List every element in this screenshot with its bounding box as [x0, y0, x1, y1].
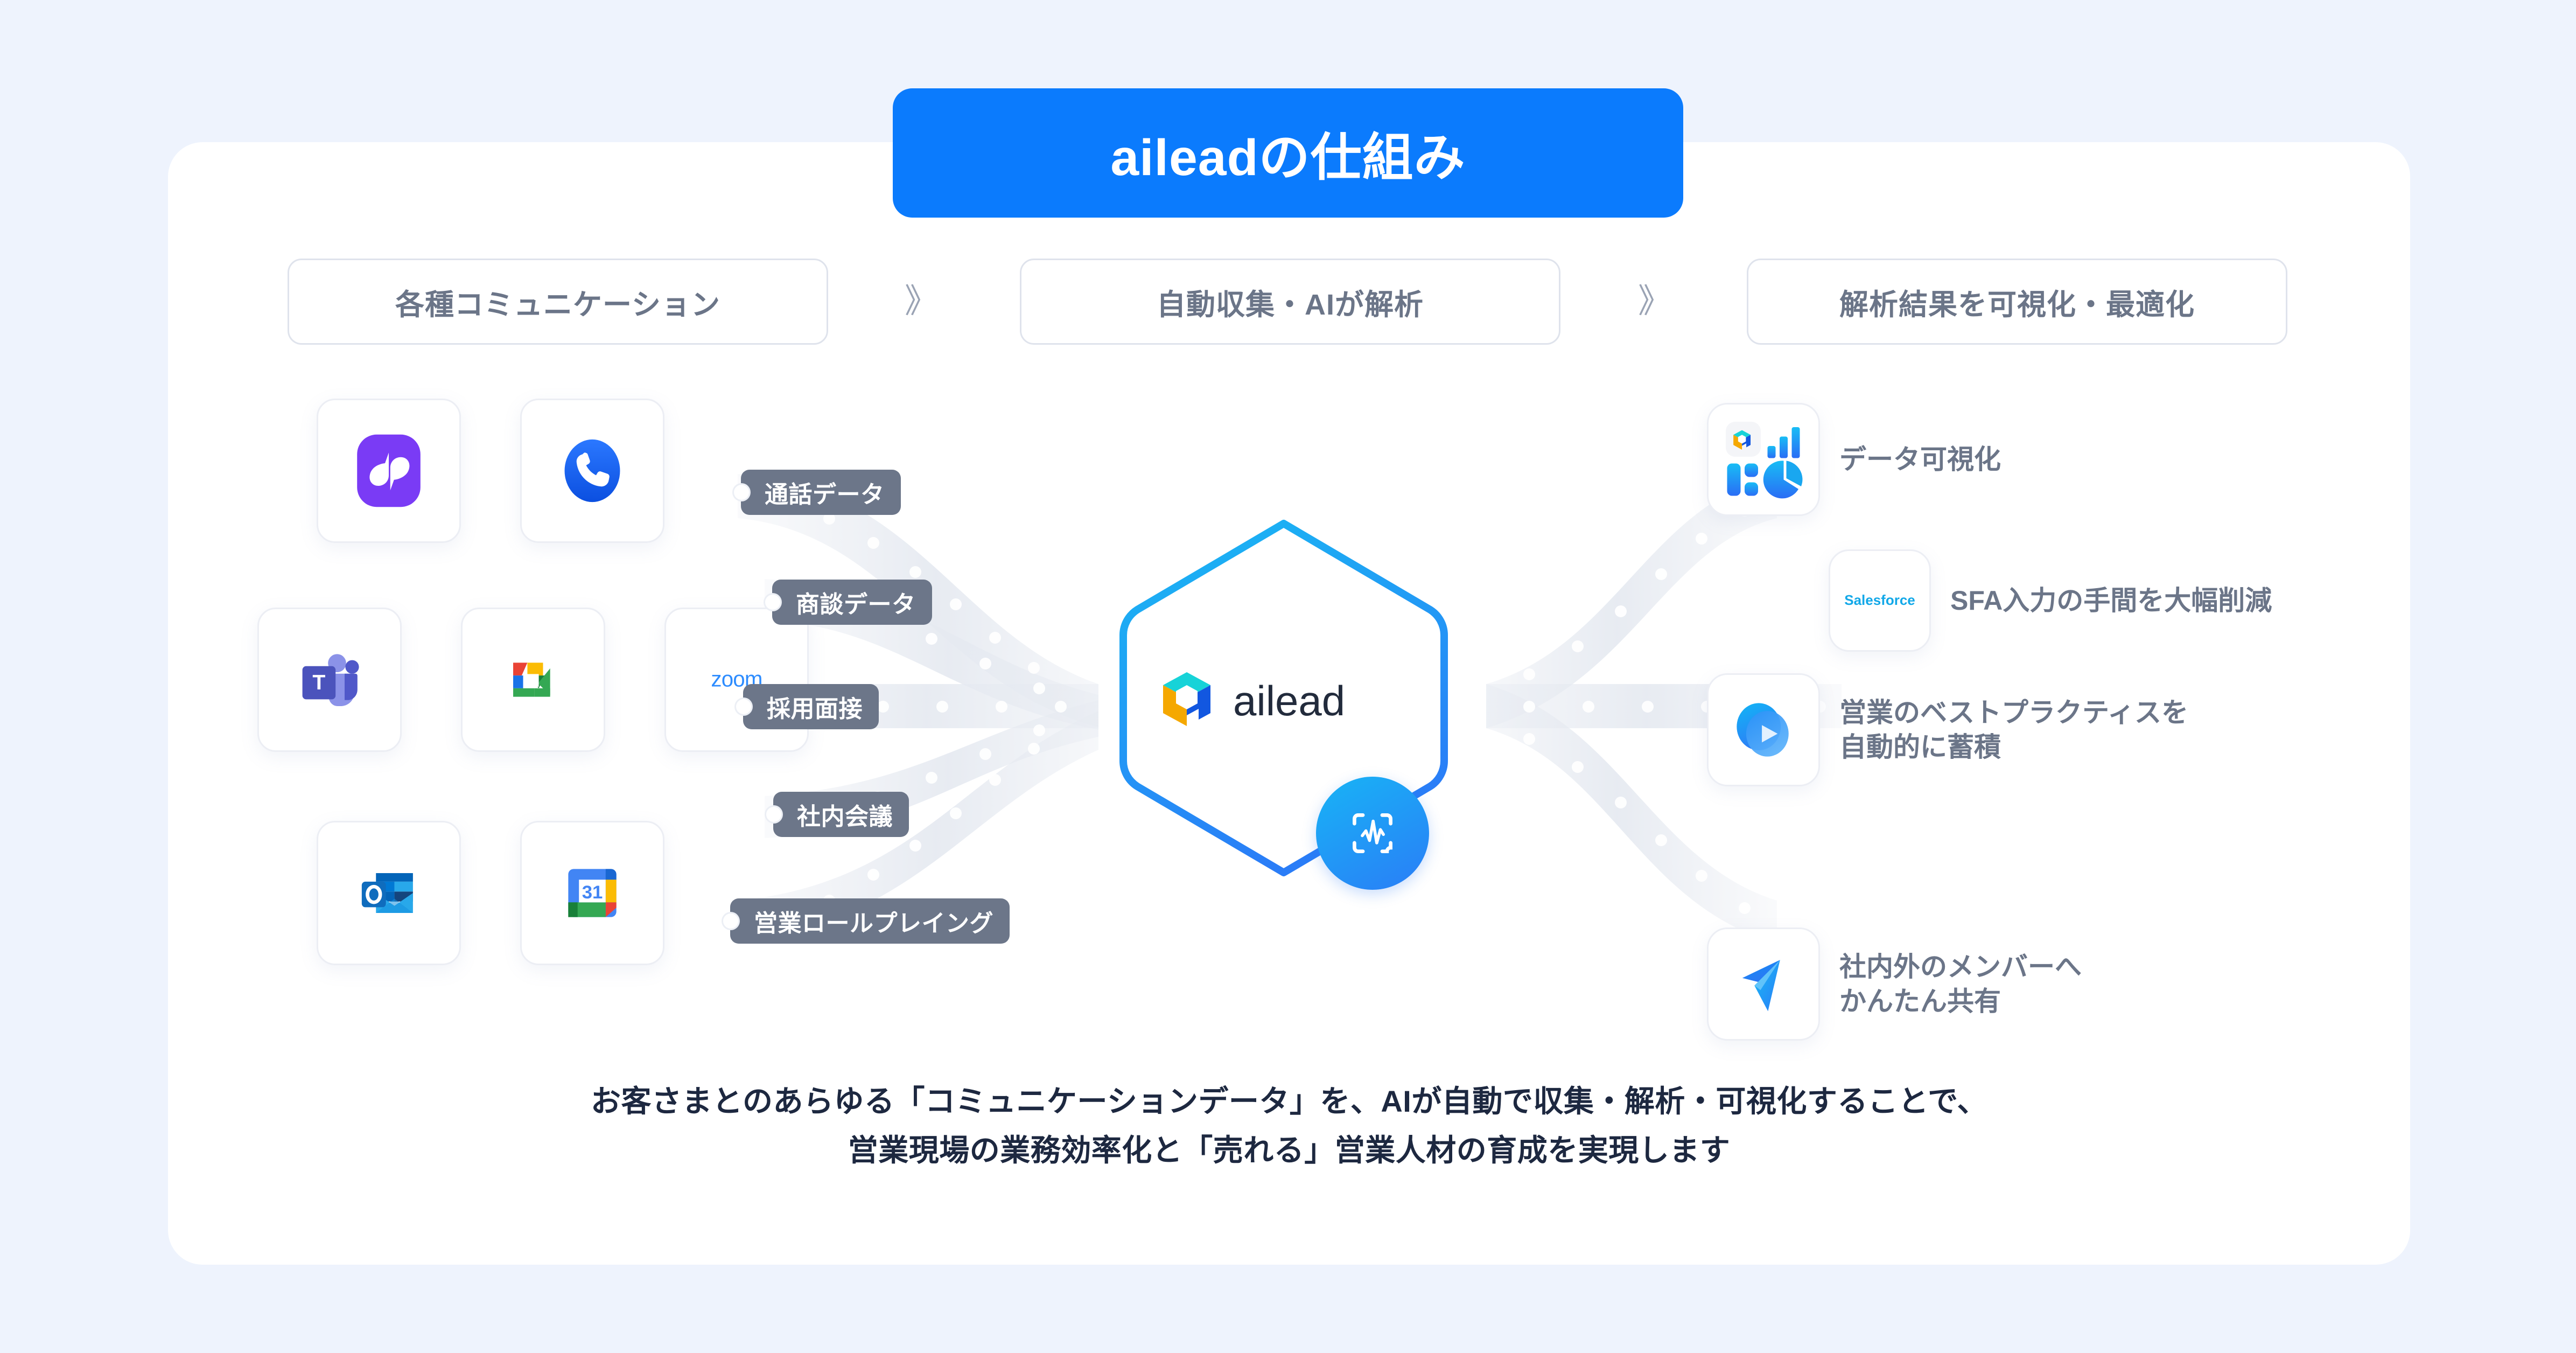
- source-tile-google-meet[interactable]: [461, 608, 605, 752]
- data-pill-interview-label: 採用面接: [767, 689, 863, 724]
- pill-dot-icon: [736, 699, 751, 714]
- data-pill-roleplay: 営業ロールプレイング: [730, 898, 1010, 944]
- title-banner: aileadの仕組み: [893, 88, 1683, 218]
- output-item-salesforce: Salesforce SFA入力の手間を大幅削減: [1829, 549, 2272, 652]
- ailead-logo: ailead: [1159, 666, 1396, 736]
- output-item-bestpractice: 営業のベストプラクティスを 自動的に蓄積: [1707, 673, 2188, 786]
- output-item-visualization: データ可視化: [1707, 403, 2001, 516]
- miitel-icon: [351, 433, 426, 508]
- step-header-output-label: 解析結果を可視化・最適化: [1839, 281, 2195, 323]
- data-pill-internal-label: 社内会議: [797, 797, 893, 832]
- infographic-stage: aileadの仕組み 各種コミュニケーション 》 自動収集・AIが解析 》 解析…: [0, 0, 2576, 1353]
- data-pill-interview: 採用面接: [743, 684, 879, 729]
- data-visualization-icon: [1723, 419, 1804, 500]
- microsoft-outlook-icon: [353, 857, 424, 929]
- google-meet-icon: [498, 644, 569, 715]
- play-circle-icon: [1724, 691, 1803, 769]
- source-tile-google-calendar[interactable]: 31: [520, 821, 664, 965]
- svg-text:Salesforce: Salesforce: [1844, 592, 1915, 608]
- google-calendar-icon: 31: [559, 860, 626, 926]
- source-tile-miitel[interactable]: [317, 399, 461, 543]
- ailead-wordmark-text: ailead: [1233, 677, 1345, 724]
- output-icon-visualization: [1707, 403, 1820, 516]
- ai-waveform-badge: [1316, 777, 1429, 890]
- output-label-visualization: データ可視化: [1839, 442, 2001, 477]
- caption-line-1: お客さまとのあらゆる「コミュニケーションデータ」を、AIが自動で収集・解析・可視…: [168, 1077, 2410, 1126]
- microsoft-teams-icon: T: [292, 642, 367, 717]
- output-icon-bestpractice: [1707, 673, 1820, 786]
- data-pill-roleplay-label: 営業ロールプレイング: [754, 904, 993, 938]
- source-tile-zoom[interactable]: zoom: [664, 608, 809, 752]
- source-tile-phone[interactable]: [520, 399, 664, 543]
- caption: お客さまとのあらゆる「コミュニケーションデータ」を、AIが自動で収集・解析・可視…: [168, 1077, 2410, 1175]
- output-icon-salesforce: Salesforce: [1829, 549, 1931, 652]
- page-title: aileadの仕組み: [1110, 116, 1465, 190]
- output-label-share: 社内外のメンバーへ かんたん共有: [1839, 950, 2082, 1019]
- step-header-sources-label: 各種コミュニケーション: [395, 281, 720, 323]
- step-header-sources: 各種コミュニケーション: [288, 259, 828, 345]
- pill-dot-icon: [734, 485, 749, 500]
- data-pill-meeting-label: 商談データ: [796, 585, 916, 619]
- waveform-scan-icon: [1342, 803, 1403, 863]
- send-plane-icon: [1726, 946, 1801, 1022]
- pill-dot-icon: [723, 913, 738, 929]
- output-item-share: 社内外のメンバーへ かんたん共有: [1707, 927, 2082, 1041]
- chevron-separator-2: 》: [1638, 280, 1671, 323]
- chevron-separator-1: 》: [905, 280, 938, 323]
- data-pill-call-label: 通話データ: [765, 475, 885, 510]
- output-label-bestpractice: 営業のベストプラクティスを 自動的に蓄積: [1839, 695, 2188, 764]
- data-pill-call: 通話データ: [741, 470, 901, 515]
- source-tile-teams[interactable]: T: [257, 608, 402, 752]
- svg-text:T: T: [312, 671, 325, 694]
- caption-line-2: 営業現場の業務効率化と「売れる」営業人材の育成を実現します: [168, 1126, 2410, 1175]
- salesforce-icon: Salesforce: [1837, 584, 1923, 617]
- pill-dot-icon: [766, 807, 781, 822]
- phone-call-icon: [557, 435, 628, 506]
- svg-text:31: 31: [582, 882, 603, 903]
- step-header-analysis: 自動収集・AIが解析: [1020, 259, 1560, 345]
- output-icon-share: [1707, 927, 1820, 1041]
- step-header-analysis-label: 自動収集・AIが解析: [1157, 281, 1424, 323]
- data-pill-meeting: 商談データ: [772, 580, 932, 625]
- ailead-cube-icon: [1163, 672, 1210, 726]
- output-label-salesforce: SFA入力の手間を大幅削減: [1950, 583, 2272, 618]
- pill-dot-icon: [765, 595, 780, 610]
- data-pill-internal: 社内会議: [773, 792, 909, 837]
- source-tile-outlook[interactable]: [317, 821, 461, 965]
- step-header-output: 解析結果を可視化・最適化: [1747, 259, 2287, 345]
